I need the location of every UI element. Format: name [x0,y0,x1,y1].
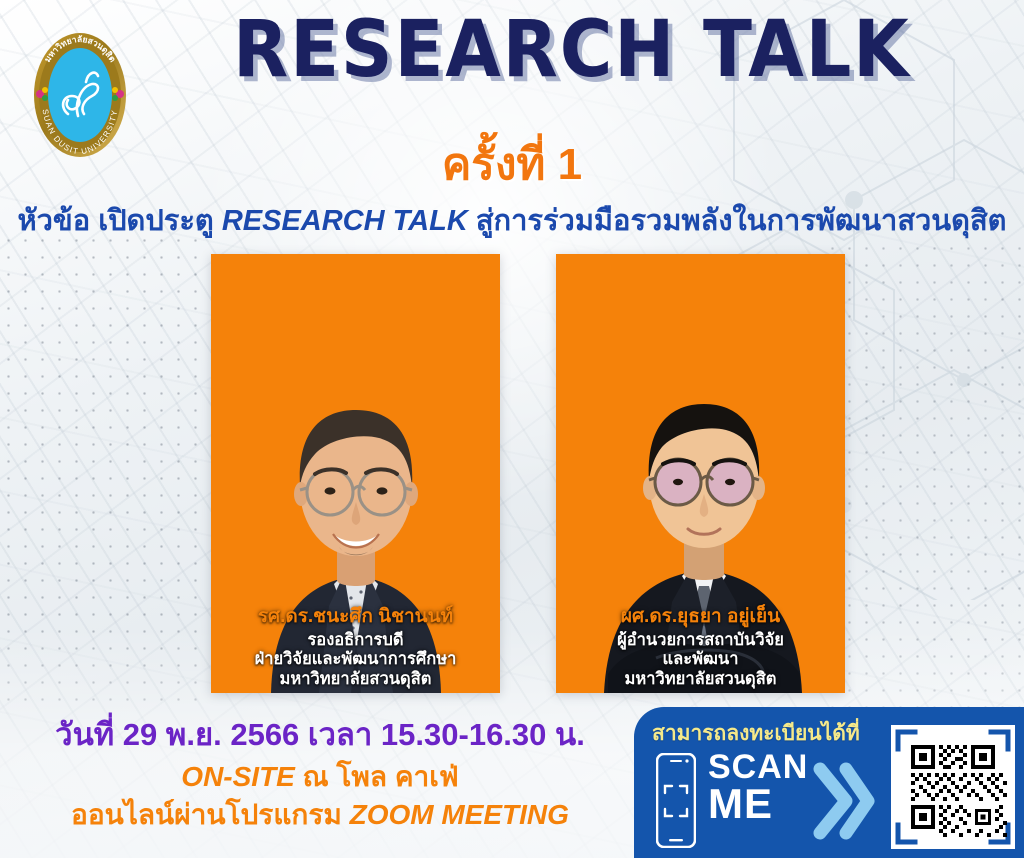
speaker-name: ผศ.ดร.ยุธยา อยู่เย็น [562,606,839,628]
edition-label: ครั้งที่ 1 [0,140,1024,191]
speaker-role-line: และพัฒนา [562,650,839,669]
speaker-card: รศ.ดร.ชนะศึก นิชานนท์ รองอธิการบดี ฝ่ายว… [211,254,500,693]
poster-root: มหาวิทยาลัยสวนดุสิต SUAN DUSIT UNIVERSIT… [0,0,1024,858]
me-word: ME [708,784,808,824]
speaker-caption: รศ.ดร.ชนะศึก นิชานนท์ รองอธิการบดี ฝ่ายว… [211,606,500,689]
topic-line: หัวข้อ เปิดประตู RESEARCH TALK สู่การร่ว… [0,203,1024,239]
speaker-role-line: มหาวิทยาลัยสวนดุสิต [217,670,494,689]
smartphone-scan-icon [656,753,696,848]
online-prefix-label: ออนไลน์ผ่านโปรแกรม [71,799,350,830]
qr-code [891,725,1015,849]
event-date-time: วันที่ 29 พ.ย. 2566 เวลา 15.30-16.30 น. [0,716,640,755]
event-online-channel: ออนไลน์ผ่านโปรแกรม ZOOM MEETING [0,797,640,833]
registration-scan-panel[interactable]: สามารถลงทะเบียนได้ที่ SCAN ME [634,707,1024,858]
topic-suffix: สู่การร่วมมือรวมพลังในการพัฒนาสวนดุสิต [468,205,1007,237]
speaker-card: ผศ.ดร.ยุธยา อยู่เย็น ผู้อำนวยการสถาบันวิ… [556,254,845,693]
speaker-role-line: มหาวิทยาลัยสวนดุสิต [562,670,839,689]
page-title: RESEARCH TALK [41,10,983,92]
registration-heading: สามารถลงทะเบียนได้ที่ [652,717,860,750]
event-details: วันที่ 29 พ.ย. 2566 เวลา 15.30-16.30 น. … [0,716,640,834]
speaker-name: รศ.ดร.ชนะศึก นิชานนท์ [217,606,494,628]
speaker-caption: ผศ.ดร.ยุธยา อยู่เย็น ผู้อำนวยการสถาบันวิ… [556,606,845,689]
qr-code-container[interactable] [891,725,1015,849]
speaker-role-line: ฝ่ายวิจัยและพัฒนาการศึกษา [217,650,494,669]
event-venue: ON-SITE ณ โพล คาเฟ่ [0,759,640,795]
speaker-role-line: ผู้อำนวยการสถาบันวิจัย [562,631,839,650]
venue-mode-label: ON-SITE [181,761,295,792]
topic-prefix: หัวข้อ เปิดประตู [18,205,222,237]
double-chevron-right-icon [812,755,876,847]
scan-me-label: SCAN ME [708,751,808,824]
scan-word: SCAN [708,751,808,784]
topic-english: RESEARCH TALK [222,205,468,237]
online-platform-label: ZOOM MEETING [350,799,569,830]
venue-place-label: ณ โพล คาเฟ่ [295,761,459,792]
speaker-role-line: รองอธิการบดี [217,631,494,650]
